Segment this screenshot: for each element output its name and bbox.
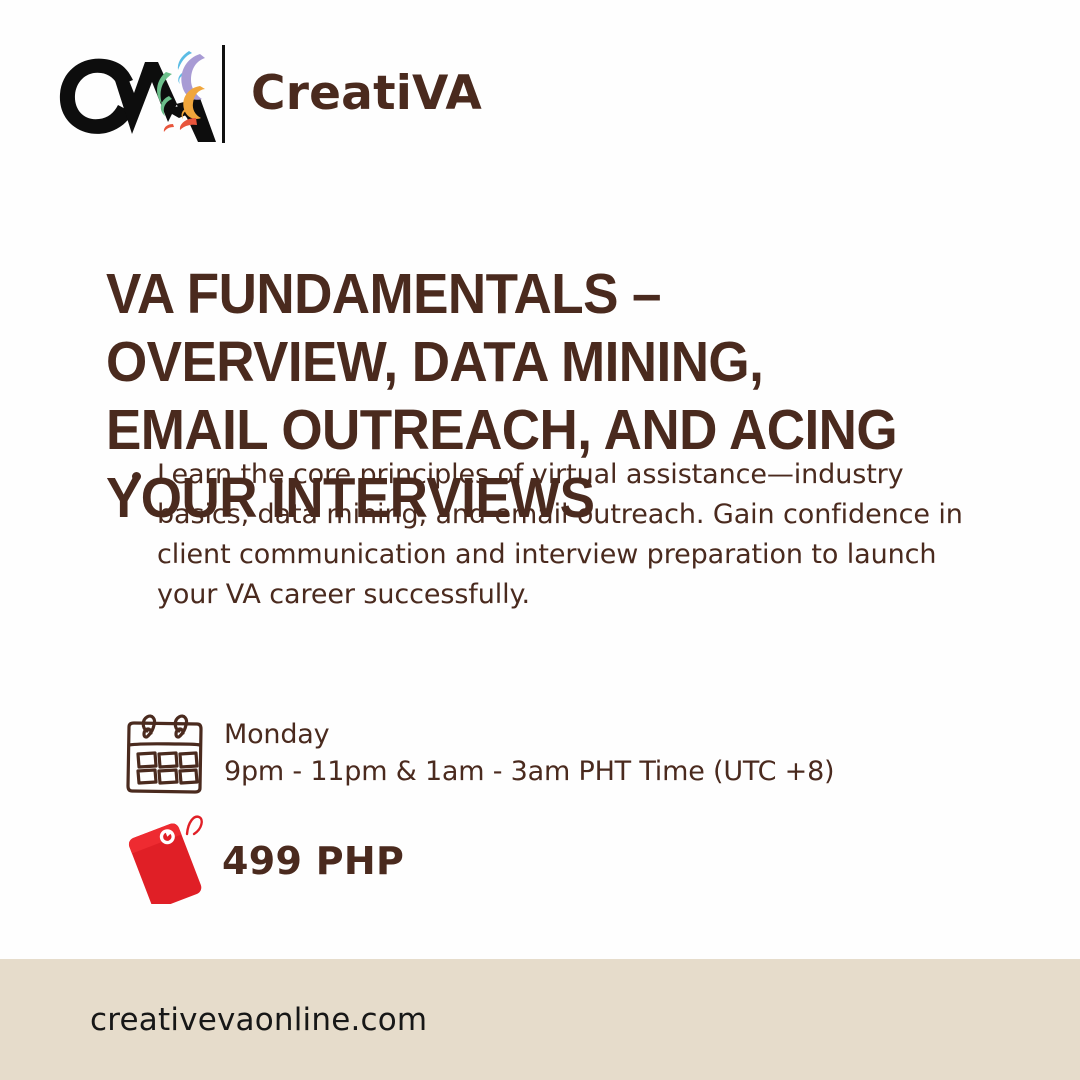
brand-divider xyxy=(222,45,225,143)
calendar-icon xyxy=(118,706,210,805)
price-block: 499 PHP xyxy=(118,812,404,909)
promo-poster: CreatiVA VA FUNDAMENTALS – OVERVIEW, DAT… xyxy=(0,0,1080,1080)
course-description-list: Learn the core principles of virtual ass… xyxy=(128,455,978,615)
schedule-text: Monday 9pm - 11pm & 1am - 3am PHT Time (… xyxy=(224,716,834,790)
website-url[interactable]: creativevaonline.com xyxy=(90,1002,427,1038)
list-item-text: Learn the core principles of virtual ass… xyxy=(157,459,963,610)
schedule-block: Monday 9pm - 11pm & 1am - 3am PHT Time (… xyxy=(118,706,834,805)
bullet-dot-icon xyxy=(132,472,141,481)
brand-name: CreatiVA xyxy=(251,70,482,117)
list-item: Learn the core principles of virtual ass… xyxy=(128,455,978,615)
footer-bar: creativevaonline.com xyxy=(0,959,1080,1080)
brand-header: CreatiVA xyxy=(48,38,482,150)
price-tag-icon xyxy=(118,812,214,909)
schedule-day: Monday xyxy=(224,716,834,753)
price-amount: 499 PHP xyxy=(222,839,404,883)
cva-monogram-pen-icon xyxy=(48,38,216,150)
schedule-time: 9pm - 11pm & 1am - 3am PHT Time (UTC +8) xyxy=(224,753,834,790)
